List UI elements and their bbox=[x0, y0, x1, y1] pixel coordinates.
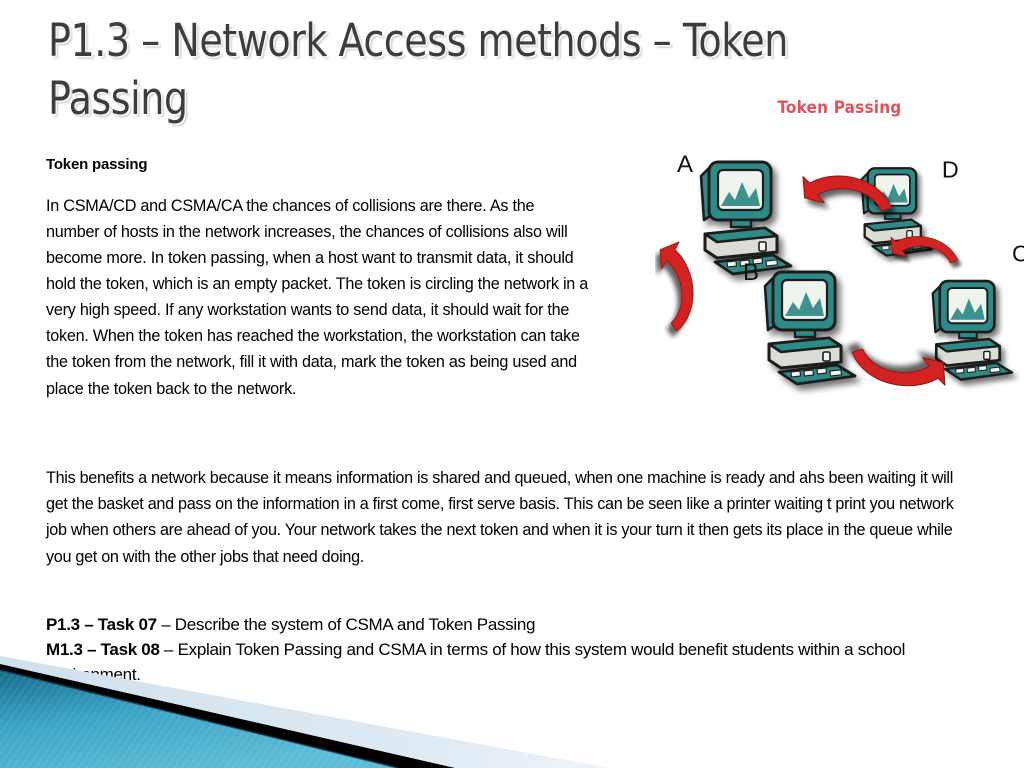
diagram-caption: Token Passing bbox=[655, 98, 1024, 118]
body-heading: Token passing bbox=[46, 156, 147, 173]
task-text: – Describe the system of CSMA and Token … bbox=[157, 615, 535, 634]
svg-text:C: C bbox=[1012, 241, 1024, 267]
svg-text:A: A bbox=[677, 151, 693, 178]
token-ring-illustration: A D C B bbox=[655, 92, 1024, 452]
task-item: P1.3 – Task 07 – Describe the system of … bbox=[46, 613, 971, 638]
svg-text:B: B bbox=[743, 259, 759, 286]
task-text: – Explain Token Passing and CSMA in term… bbox=[46, 640, 905, 684]
task-item: M1.3 – Task 08 – Explain Token Passing a… bbox=[46, 638, 971, 688]
computer-node-c: C bbox=[933, 241, 1024, 380]
task-list: P1.3 – Task 07 – Describe the system of … bbox=[46, 613, 971, 687]
paragraph-benefits: This benefits a network because it means… bbox=[46, 465, 964, 570]
arrow-a-to-b bbox=[655, 242, 706, 332]
computer-node-b: B bbox=[743, 259, 855, 384]
svg-text:D: D bbox=[942, 157, 959, 183]
computer-node-a: A bbox=[677, 151, 791, 274]
task-code: P1.3 – Task 07 bbox=[46, 615, 157, 634]
token-ring-diagram: Token Passing bbox=[655, 92, 1024, 452]
arrow-b-to-c bbox=[852, 349, 945, 386]
paragraph-token-passing: In CSMA/CD and CSMA/CA the chances of co… bbox=[46, 193, 591, 402]
task-code: M1.3 – Task 08 bbox=[46, 640, 160, 659]
